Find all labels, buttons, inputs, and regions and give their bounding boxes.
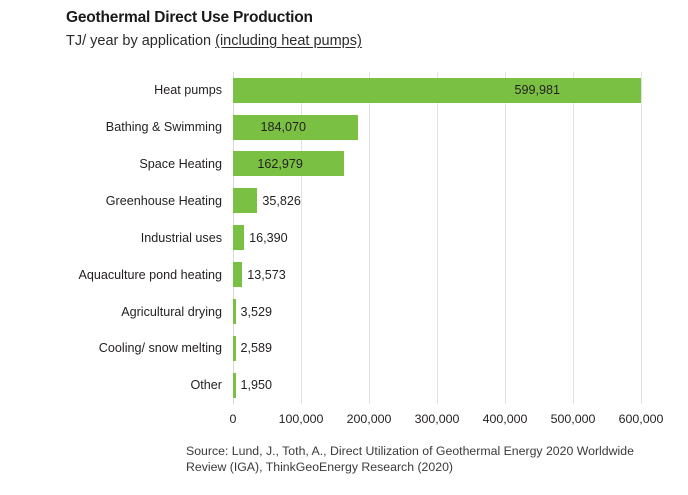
x-tick-label: 300,000 — [415, 412, 460, 426]
x-tick-label: 400,000 — [483, 412, 528, 426]
bar[interactable] — [233, 373, 236, 398]
bar-row[interactable]: Bathing & Swimming184,070 — [0, 109, 688, 145]
bar-rows: Heat pumps599,981Bathing & Swimming184,0… — [0, 72, 688, 404]
x-tick-label: 600,000 — [619, 412, 664, 426]
bar[interactable] — [233, 336, 236, 361]
bar-row[interactable]: Industrial uses16,390 — [0, 220, 688, 256]
bar[interactable] — [233, 262, 242, 287]
bar-value-label: 184,070 — [261, 109, 307, 145]
x-axis: 0100,000200,000300,000400,000500,000600,… — [233, 412, 641, 432]
chart-header: Geothermal Direct Use Production TJ/ yea… — [66, 8, 666, 52]
bar-row[interactable]: Greenhouse Heating35,826 — [0, 183, 688, 219]
category-label: Bathing & Swimming — [0, 120, 222, 134]
bar-row[interactable]: Cooling/ snow melting2,589 — [0, 330, 688, 366]
bar[interactable] — [233, 299, 236, 324]
bar-row[interactable]: Space Heating162,979 — [0, 146, 688, 182]
subtitle-prefix: TJ/ year by application — [66, 33, 215, 49]
bar-value-label: 162,979 — [257, 146, 303, 182]
source-line-1: Source: Lund, J., Toth, A., Direct Utili… — [186, 443, 676, 459]
x-tick-label: 500,000 — [551, 412, 596, 426]
bar-container: 16,390 — [233, 220, 288, 256]
bar-container: 3,529 — [233, 293, 272, 329]
bar-container: 1,950 — [233, 367, 272, 403]
bar-row[interactable]: Aquaculture pond heating13,573 — [0, 256, 688, 292]
category-label: Cooling/ snow melting — [0, 341, 222, 355]
x-tick-label: 100,000 — [279, 412, 324, 426]
subtitle-emphasis: (including heat pumps) — [215, 33, 362, 49]
bar-value-label: 35,826 — [262, 194, 301, 208]
bar-value-label: 13,573 — [247, 268, 286, 282]
bar-value-label: 599,981 — [515, 72, 561, 108]
x-tick-label: 200,000 — [347, 412, 392, 426]
source-note: Source: Lund, J., Toth, A., Direct Utili… — [186, 443, 676, 475]
bar-container — [233, 72, 641, 108]
category-label: Agricultural drying — [0, 305, 222, 319]
plot-area: Heat pumps599,981Bathing & Swimming184,0… — [0, 72, 688, 412]
bar-value-label: 16,390 — [249, 231, 288, 245]
bar-row[interactable]: Other1,950 — [0, 367, 688, 403]
bar-container: 35,826 — [233, 183, 301, 219]
bar-row[interactable]: Heat pumps599,981 — [0, 72, 688, 108]
bar[interactable] — [233, 188, 257, 213]
bar-value-label: 2,589 — [241, 341, 273, 355]
chart-subtitle: TJ/ year by application (including heat … — [66, 30, 666, 52]
geothermal-direct-use-chart: Geothermal Direct Use Production TJ/ yea… — [0, 0, 688, 495]
bar[interactable] — [233, 78, 641, 103]
page-title: Geothermal Direct Use Production — [66, 8, 666, 28]
category-label: Aquaculture pond heating — [0, 268, 222, 282]
category-label: Other — [0, 378, 222, 392]
bar-container: 2,589 — [233, 330, 272, 366]
category-label: Space Heating — [0, 157, 222, 171]
category-label: Greenhouse Heating — [0, 194, 222, 208]
x-tick-label: 0 — [230, 412, 237, 426]
bar[interactable] — [233, 225, 244, 250]
bar-container: 13,573 — [233, 256, 286, 292]
bar-value-label: 3,529 — [241, 305, 273, 319]
bar-value-label: 1,950 — [241, 378, 273, 392]
bar-row[interactable]: Agricultural drying3,529 — [0, 293, 688, 329]
source-line-2: Review (IGA), ThinkGeoEnergy Research (2… — [186, 459, 676, 475]
category-label: Industrial uses — [0, 231, 222, 245]
category-label: Heat pumps — [0, 83, 222, 97]
